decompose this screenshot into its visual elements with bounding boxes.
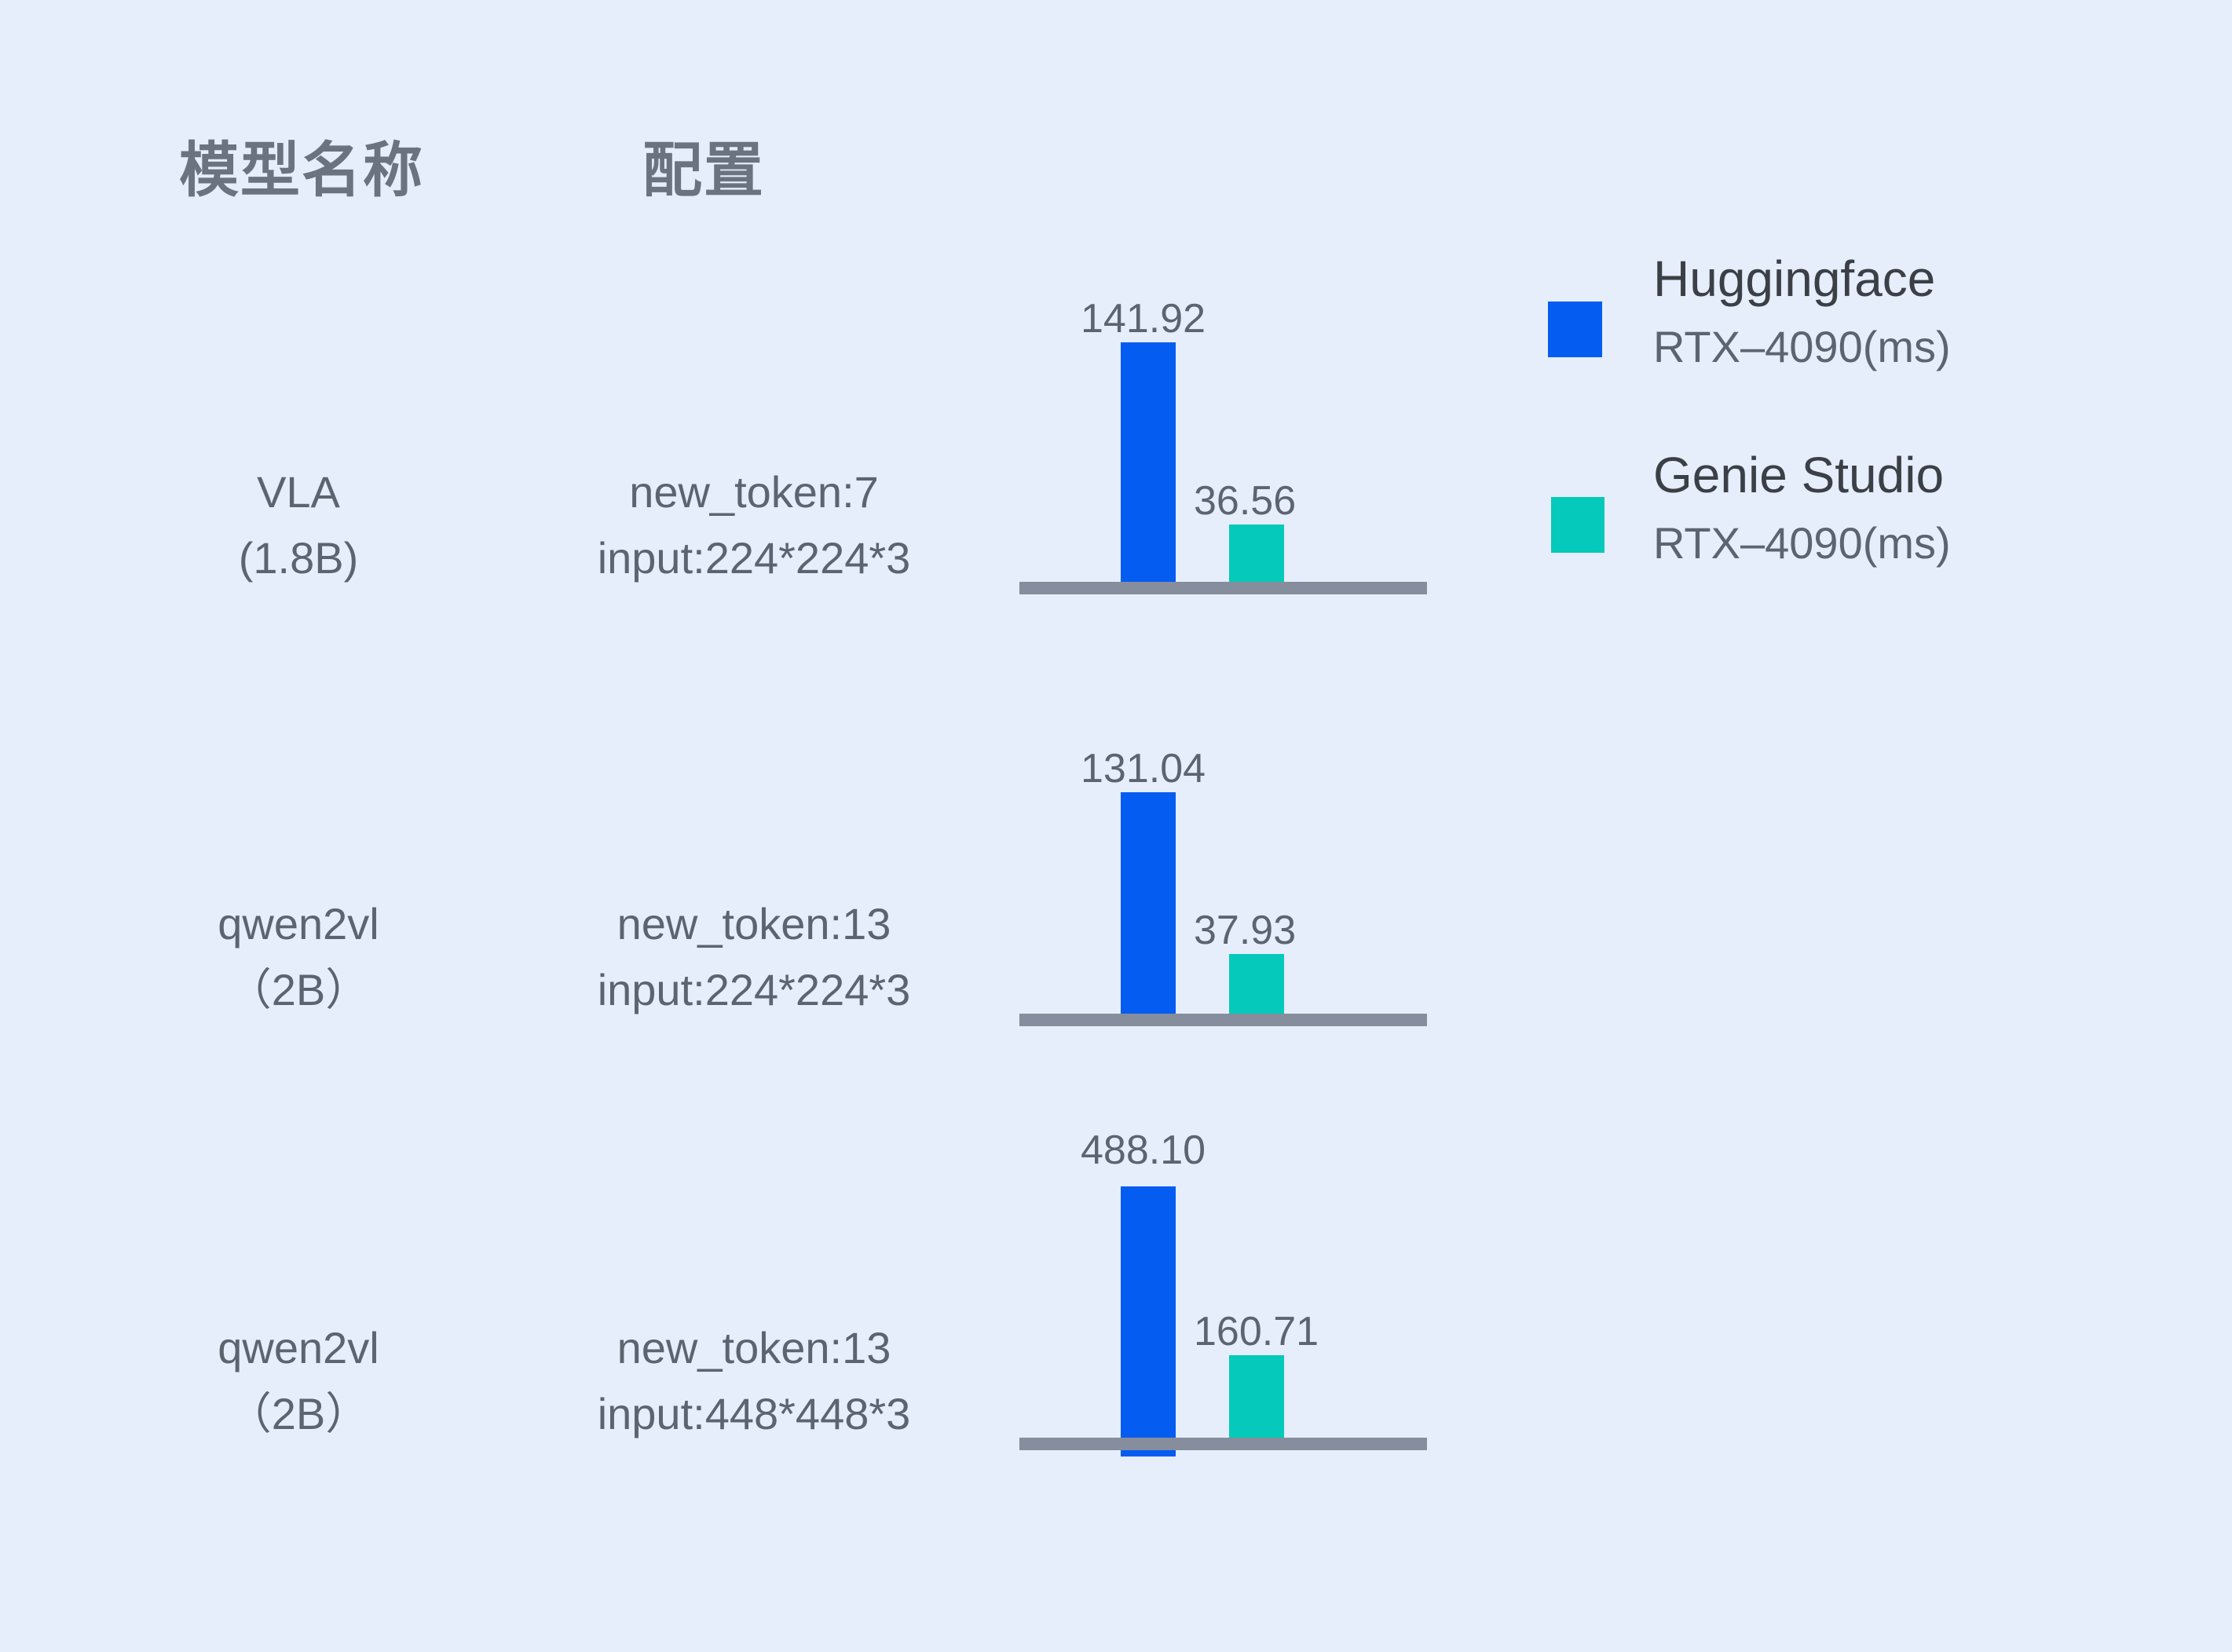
legend-item-huggingface[interactable]: Huggingface RTX–4090(ms) xyxy=(1539,243,2168,416)
legend-swatch-teal-icon xyxy=(1551,497,1604,553)
legend-title: Genie Studio xyxy=(1653,440,2156,510)
row-config-input: input:224*224*3 xyxy=(471,525,1037,591)
bar-huggingface[interactable] xyxy=(1121,342,1176,588)
plot-baseline xyxy=(1019,582,1427,594)
legend-title: Huggingface xyxy=(1653,243,2156,314)
legend-swatch-blue-icon xyxy=(1548,302,1602,357)
bar-huggingface[interactable] xyxy=(1121,1186,1176,1456)
row-model-label: qwen2vl （2B） xyxy=(134,1315,463,1447)
row-model-name: qwen2vl xyxy=(134,1315,463,1381)
bar-value-genie-studio: 37.93 xyxy=(1194,907,1296,954)
chart-row: qwen2vl （2B） new_token:13 input:224*224*… xyxy=(0,663,2232,1087)
row-config-tokens: new_token:7 xyxy=(471,459,1037,525)
row-model-name: VLA xyxy=(134,459,463,525)
row-plot: 131.04 37.93 xyxy=(1019,663,1427,1087)
legend-subtitle: RTX–4090(ms) xyxy=(1653,510,2156,576)
row-config-label: new_token:7 input:224*224*3 xyxy=(471,459,1037,591)
legend-text: Huggingface RTX–4090(ms) xyxy=(1653,243,2156,380)
legend-item-genie-studio[interactable]: Genie Studio RTX–4090(ms) xyxy=(1539,440,2168,612)
row-config-tokens: new_token:13 xyxy=(471,891,1037,957)
bar-genie-studio[interactable] xyxy=(1229,1355,1284,1444)
row-model-size: （2B） xyxy=(134,1381,463,1447)
row-model-label: VLA (1.8B) xyxy=(134,459,463,591)
row-model-size: （2B） xyxy=(134,957,463,1023)
row-config-input: input:224*224*3 xyxy=(471,957,1037,1023)
bar-value-genie-studio: 160.71 xyxy=(1194,1308,1319,1355)
bar-value-huggingface: 488.10 xyxy=(1081,1127,1206,1174)
row-plot: 141.92 36.56 xyxy=(1019,232,1427,656)
plot-baseline xyxy=(1019,1438,1427,1450)
row-plot: 488.10 160.71 xyxy=(1019,1087,1427,1511)
row-model-name: qwen2vl xyxy=(134,891,463,957)
row-model-size: (1.8B) xyxy=(134,525,463,591)
bar-value-huggingface: 141.92 xyxy=(1081,295,1206,342)
bar-genie-studio[interactable] xyxy=(1229,954,1284,1020)
bar-value-genie-studio: 36.56 xyxy=(1194,477,1296,524)
row-config-label: new_token:13 input:224*224*3 xyxy=(471,891,1037,1023)
plot-baseline xyxy=(1019,1014,1427,1026)
bar-huggingface[interactable] xyxy=(1121,792,1176,1020)
legend-subtitle: RTX–4090(ms) xyxy=(1653,314,2156,380)
chart-row: qwen2vl （2B） new_token:13 input:448*448*… xyxy=(0,1087,2232,1511)
row-model-label: qwen2vl （2B） xyxy=(134,891,463,1023)
bar-value-huggingface: 131.04 xyxy=(1081,745,1206,792)
row-config-tokens: new_token:13 xyxy=(471,1315,1037,1381)
row-config-input: input:448*448*3 xyxy=(471,1381,1037,1447)
legend-text: Genie Studio RTX–4090(ms) xyxy=(1653,440,2156,576)
bar-genie-studio[interactable] xyxy=(1229,524,1284,588)
row-config-label: new_token:13 input:448*448*3 xyxy=(471,1315,1037,1447)
